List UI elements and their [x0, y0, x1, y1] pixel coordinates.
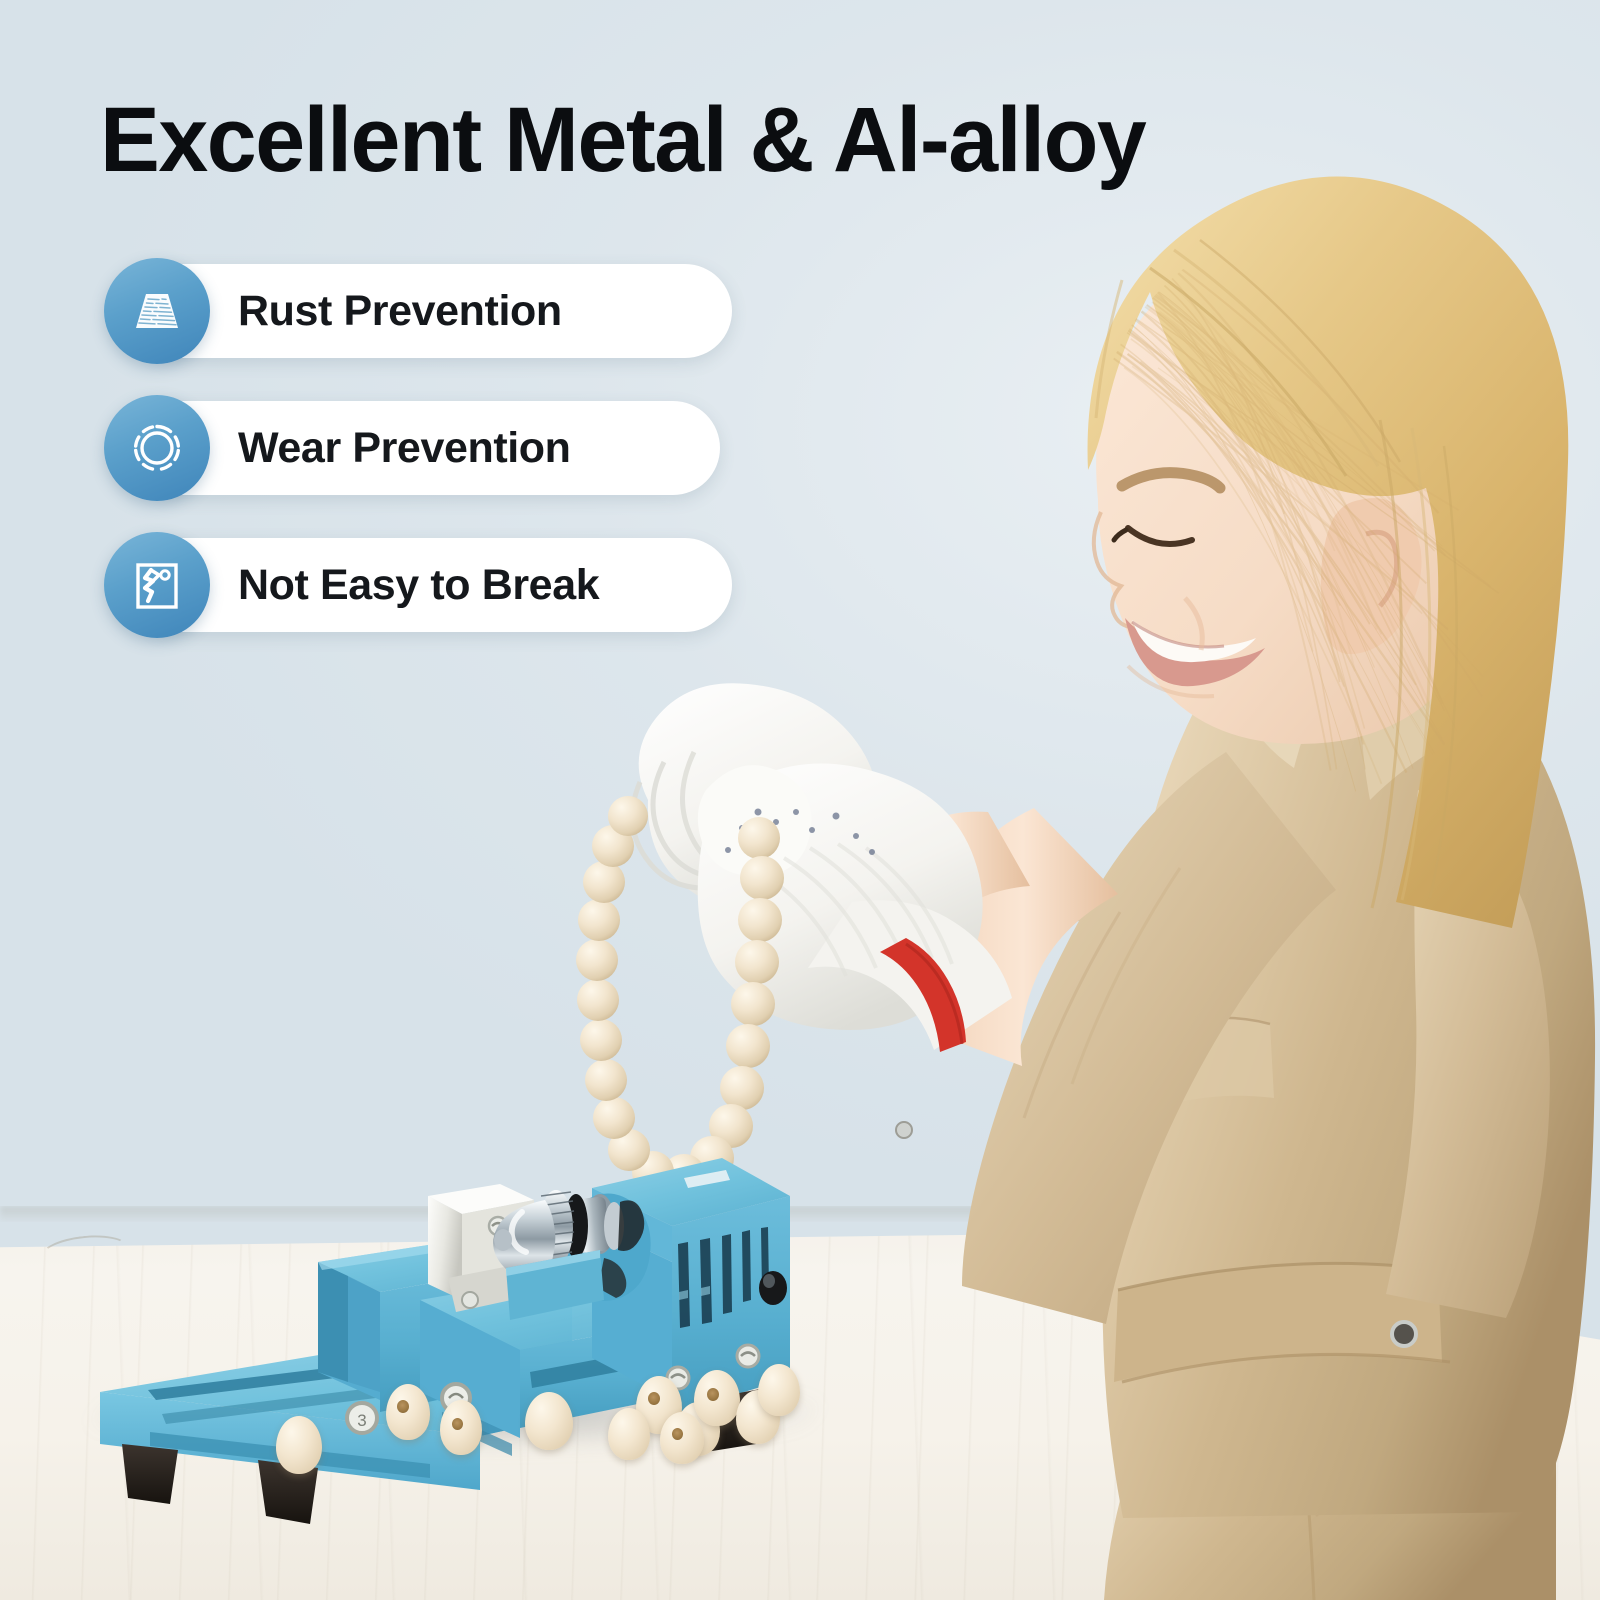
- loose-bead: [276, 1416, 322, 1474]
- loose-bead: [386, 1384, 430, 1440]
- model-photo: [0, 0, 1600, 1600]
- belt-snap-button: [1392, 1322, 1416, 1346]
- loose-bead-hole: [707, 1388, 719, 1401]
- feature-label: Wear Prevention: [238, 424, 571, 473]
- loose-bead-hole: [672, 1428, 683, 1440]
- feature-list: Rust Prevention: [104, 258, 599, 669]
- loose-bead: [660, 1412, 704, 1464]
- bearing-ring-icon: [104, 395, 210, 501]
- loose-bead-hole: [648, 1392, 660, 1405]
- feature-item-wear-prevention[interactable]: Wear Prevention: [104, 395, 599, 501]
- loose-bead: [525, 1392, 573, 1450]
- feature-label: Rust Prevention: [238, 287, 562, 336]
- loose-bead-hole: [397, 1400, 409, 1413]
- loose-bead: [758, 1364, 800, 1416]
- loose-bead-hole: [452, 1418, 463, 1430]
- sleeve-snap-button: [896, 1122, 912, 1138]
- feature-item-rust-prevention[interactable]: Rust Prevention: [104, 258, 599, 364]
- page-title: Excellent Metal & Al-alloy: [100, 92, 1145, 189]
- brushed-metal-plate-icon: [104, 258, 210, 364]
- feature-item-not-easy-to-break[interactable]: Not Easy to Break: [104, 532, 599, 638]
- feature-label: Not Easy to Break: [238, 561, 599, 610]
- cracked-plate-icon: [104, 532, 210, 638]
- loose-bead: [608, 1408, 650, 1460]
- product-marketing-image: 3 Excellent Metal & Al-alloy: [0, 0, 1600, 1600]
